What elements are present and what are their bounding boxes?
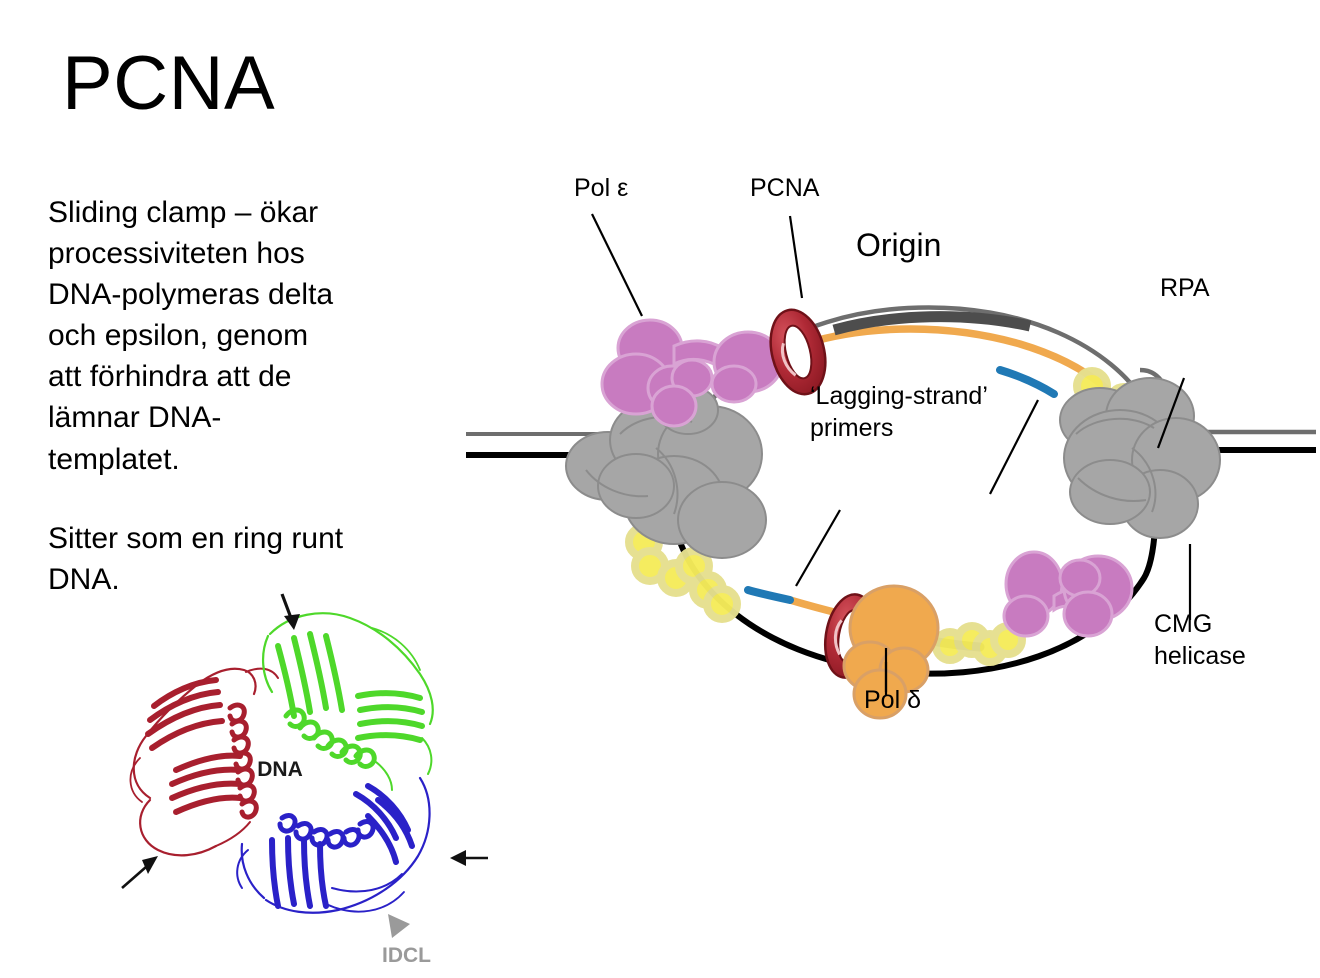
pol-epsilon-left bbox=[602, 320, 782, 426]
label-pcna: PCNA bbox=[750, 174, 820, 202]
replication-bubble-diagram: Pol ε PCNA Origin RPA ‘Lagging-strand’ p… bbox=[460, 148, 1320, 718]
structure-arrow-idcl bbox=[388, 914, 410, 938]
leader-pol-epsilon bbox=[592, 214, 642, 316]
label-cmg-line2: helicase bbox=[1154, 642, 1246, 670]
structure-arrow-right bbox=[450, 850, 488, 866]
pcna-crystal-structure-figure: DNA IDCL bbox=[120, 588, 492, 978]
structure-dna-label: DNA bbox=[257, 758, 303, 781]
pol-epsilon-right bbox=[1004, 552, 1132, 636]
body-text-block: Sliding clamp – ökar processiviteten hos… bbox=[48, 192, 348, 600]
label-rpa: RPA bbox=[1160, 274, 1210, 302]
pcna-subunit-red bbox=[130, 669, 278, 856]
body-paragraph-1: Sliding clamp – ökar processiviteten hos… bbox=[48, 192, 348, 480]
structure-arrow-left bbox=[122, 856, 158, 888]
label-origin: Origin bbox=[856, 227, 941, 263]
leader-lagging-bottom bbox=[796, 510, 840, 586]
rpa-circles-bottom-right bbox=[936, 626, 1022, 662]
label-pol-epsilon: Pol ε bbox=[574, 174, 628, 202]
leader-pcna bbox=[790, 216, 802, 298]
lagging-primer-bottom bbox=[748, 590, 790, 600]
cmg-helicase-right bbox=[1060, 378, 1220, 538]
structure-idcl-label: IDCL bbox=[382, 944, 431, 967]
label-pol-delta: Pol δ bbox=[864, 686, 921, 714]
structure-arrow-top bbox=[282, 594, 300, 630]
nascent-strand-top bbox=[804, 329, 1108, 390]
label-lagging-primers-line1: ‘Lagging-strand’ bbox=[810, 382, 988, 410]
label-cmg-line1: CMG bbox=[1154, 610, 1212, 638]
label-lagging-primers-line2: primers bbox=[810, 414, 893, 442]
lagging-primer-top bbox=[1000, 370, 1054, 394]
page-title: PCNA bbox=[62, 44, 275, 124]
pcna-subunit-blue bbox=[237, 778, 429, 913]
leader-lagging-top bbox=[990, 400, 1038, 494]
